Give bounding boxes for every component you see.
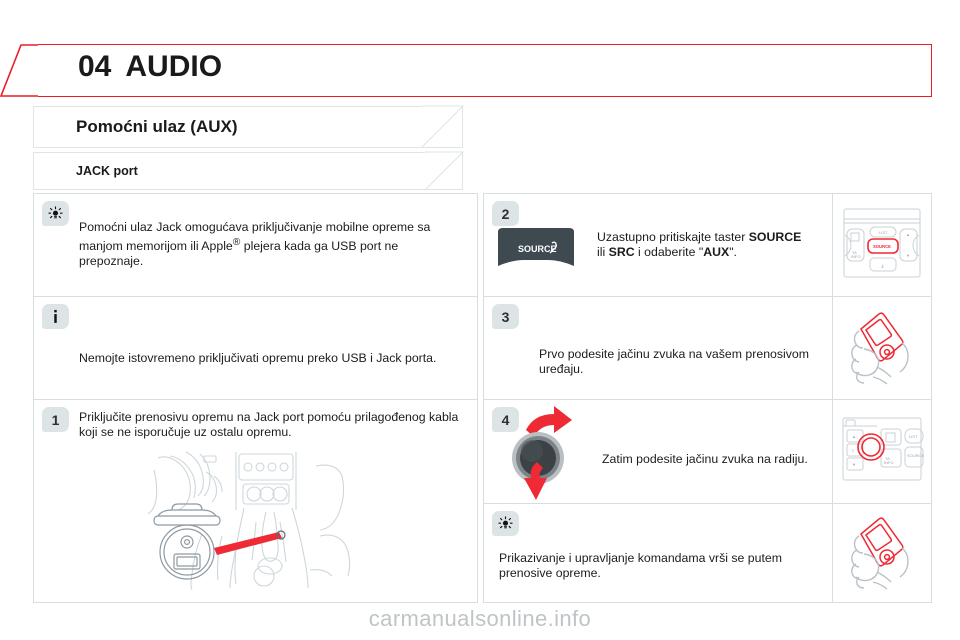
hand-holding-media-player bbox=[847, 510, 917, 597]
svg-text:▼: ▼ bbox=[906, 253, 910, 258]
center-console-jack-socket-diagram bbox=[144, 450, 359, 595]
svg-text:▼: ▼ bbox=[852, 462, 856, 467]
table-row: Prikazivanje i upravljanje komandama vrš… bbox=[484, 504, 931, 602]
section-heading-main: Pomoćni ulaz (AUX) bbox=[33, 106, 463, 148]
table-row: 4 Zatim podesite jačinu zvuka na radiju. bbox=[484, 400, 931, 504]
svg-text:INFO: INFO bbox=[851, 254, 861, 259]
table-cell-content: 4 Zatim podesite jačinu zvuka na radiju. bbox=[484, 400, 832, 503]
table-row: 3 Prvo podesite jačinu zvuka na vašem pr… bbox=[484, 297, 931, 400]
tip-icon bbox=[42, 201, 69, 226]
svg-text:INFO: INFO bbox=[884, 460, 894, 465]
procedure-table-left: Pomoćni ulaz Jack omogućava priključivan… bbox=[33, 193, 478, 603]
steering-wheel-controls-source-highlight: LIST TA INFO ▲ ▼ SOURCE ♪ bbox=[839, 205, 925, 286]
step-number-badge: 2 bbox=[492, 201, 519, 226]
table-cell-content: Prikazivanje i upravljanje komandama vrš… bbox=[484, 504, 832, 602]
chapter-number: 04 bbox=[78, 50, 111, 83]
svg-text:▲: ▲ bbox=[852, 434, 856, 439]
table-cell-illustration: ▲ ≡ ▼ LIST SOURCE TA INFO bbox=[832, 400, 931, 503]
step-1-text: Priključite prenosivu opremu na Jack por… bbox=[79, 410, 469, 440]
section-heading-sub-corner bbox=[424, 151, 464, 191]
table-cell-content: 2 SOURCE Uzastupno pritiskajte taster SO… bbox=[484, 194, 832, 296]
svg-text:LIST: LIST bbox=[879, 230, 888, 235]
table-row: Nemojte istovremeno priključivati opremu… bbox=[34, 297, 477, 400]
svg-text:▲: ▲ bbox=[906, 232, 910, 237]
svg-text:SOURCE: SOURCE bbox=[907, 453, 924, 458]
table-cell-content: 3 Prvo podesite jačinu zvuka na vašem pr… bbox=[484, 297, 832, 399]
source-button: SOURCE bbox=[490, 226, 582, 279]
svg-text:SOURCE: SOURCE bbox=[873, 244, 891, 249]
table-cell-illustration: LIST TA INFO ▲ ▼ SOURCE ♪ bbox=[832, 194, 931, 296]
table-cell-content: Pomoćni ulaz Jack omogućava priključivan… bbox=[34, 194, 477, 296]
volume-knob-with-arrows bbox=[492, 402, 584, 503]
hand-holding-media-player bbox=[847, 305, 917, 392]
step-2-text: Uzastupno pritiskajte taster SOURCE ili … bbox=[597, 230, 812, 260]
step-number-badge: 1 bbox=[42, 407, 69, 432]
info-icon bbox=[42, 304, 69, 329]
step-3-text: Prvo podesite jačinu zvuka na vašem pren… bbox=[539, 347, 809, 377]
tip-text: Pomoćni ulaz Jack omogućava priključivan… bbox=[79, 220, 444, 269]
svg-text:≡: ≡ bbox=[852, 448, 855, 453]
procedure-table-right: 2 SOURCE Uzastupno pritiskajte taster SO… bbox=[483, 193, 932, 603]
table-cell-content: 1 Priključite prenosivu opremu na Jack p… bbox=[34, 400, 477, 604]
info-text: Nemojte istovremeno priključivati opremu… bbox=[79, 351, 469, 366]
step-number-badge: 3 bbox=[492, 304, 519, 329]
svg-text:LIST: LIST bbox=[909, 434, 918, 439]
section-heading-sub-label: JACK port bbox=[76, 164, 138, 178]
table-row: Pomoćni ulaz Jack omogućava priključivan… bbox=[34, 194, 477, 297]
step-4-text: Zatim podesite jačinu zvuka na radiju. bbox=[602, 452, 832, 467]
table-cell-content: Nemojte istovremeno priključivati opremu… bbox=[34, 297, 477, 399]
table-cell-illustration bbox=[832, 504, 931, 602]
table-row: 1 Priključite prenosivu opremu na Jack p… bbox=[34, 400, 477, 604]
tip-text: Prikazivanje i upravljanje komandama vrš… bbox=[499, 551, 809, 581]
tip-icon bbox=[492, 511, 519, 536]
table-cell-illustration bbox=[832, 297, 931, 399]
chapter-name: AUDIO bbox=[125, 50, 222, 83]
site-watermark: carmanualsonline.info bbox=[0, 606, 960, 632]
svg-text:♪: ♪ bbox=[881, 264, 884, 270]
section-heading-sub: JACK port bbox=[33, 152, 463, 190]
section-heading-main-corner bbox=[420, 105, 464, 149]
table-row: 2 SOURCE Uzastupno pritiskajte taster SO… bbox=[484, 194, 931, 297]
page-title: 04AUDIO bbox=[78, 50, 222, 84]
section-heading-main-label: Pomoćni ulaz (AUX) bbox=[76, 117, 238, 137]
steering-wheel-controls-volume-highlight: ▲ ≡ ▼ LIST SOURCE TA INFO bbox=[839, 416, 925, 487]
